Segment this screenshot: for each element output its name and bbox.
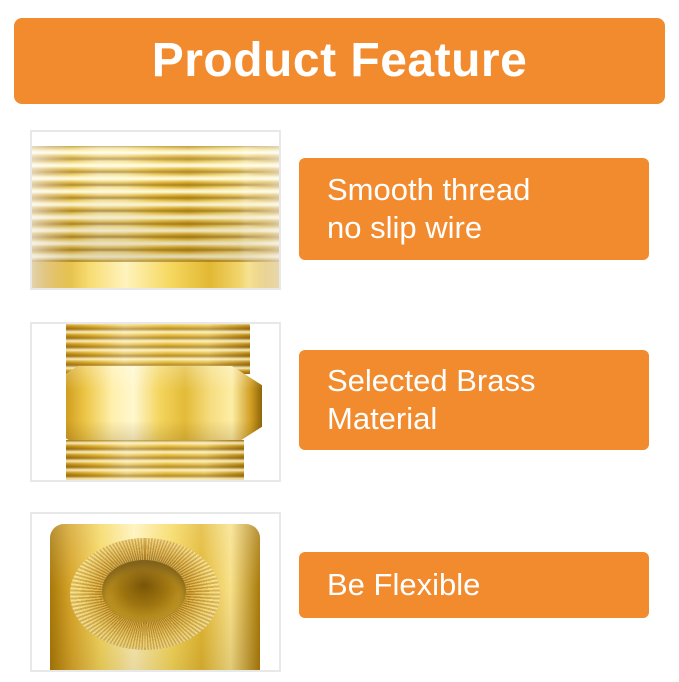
brass-hex-nut-shape xyxy=(48,366,262,446)
feature-row: Smooth thread no slip wire xyxy=(0,130,679,300)
feature-image-port-top-view xyxy=(30,512,281,672)
feature-label-text-3: Be Flexible xyxy=(327,566,480,604)
highlight-left xyxy=(32,132,72,288)
feature-image-hex-body xyxy=(30,322,281,482)
feature-row: Be Flexible xyxy=(0,512,679,682)
feature-label-banner-1: Smooth thread no slip wire xyxy=(299,158,649,260)
brass-thread-lower-shape xyxy=(66,440,244,480)
feature-image-threads xyxy=(30,130,281,290)
feature-image-port-top-view-inner xyxy=(32,514,279,670)
feature-row: Selected Brass Material xyxy=(0,322,679,492)
photo-mask-right xyxy=(265,324,279,480)
feature-label-text-2: Selected Brass Material xyxy=(327,362,536,438)
feature-label-banner-2: Selected Brass Material xyxy=(299,350,649,450)
feature-label-banner-3: Be Flexible xyxy=(299,552,649,618)
highlight-overlay xyxy=(50,524,260,670)
feature-image-hex-body-inner xyxy=(32,324,279,480)
feature-label-text-1: Smooth thread no slip wire xyxy=(327,171,530,247)
highlight-right xyxy=(239,132,279,288)
page-title: Product Feature xyxy=(152,37,528,85)
header-banner: Product Feature xyxy=(14,18,665,104)
feature-image-threads-inner xyxy=(32,132,279,288)
photo-mask-left xyxy=(32,324,66,480)
